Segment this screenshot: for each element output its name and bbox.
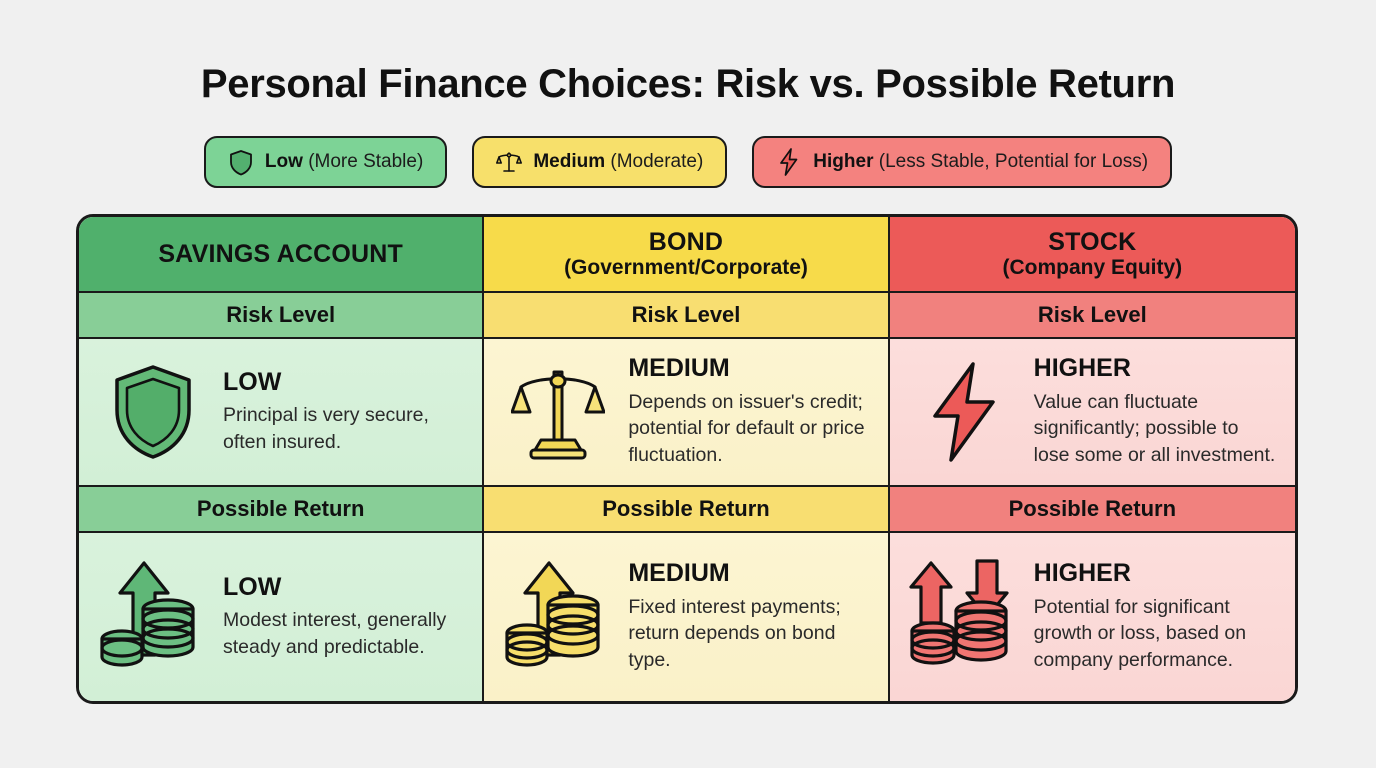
cell-risk-bond: MEDIUM Depends on issuer's credit; poten…	[484, 339, 889, 487]
cell-level: HIGHER	[1034, 560, 1279, 588]
scales-icon	[496, 148, 522, 176]
section-label-return-stock: Possible Return	[890, 487, 1295, 533]
column-header-main: SAVINGS ACCOUNT	[158, 240, 403, 268]
section-label-risk-savings: Risk Level	[79, 293, 484, 339]
lightning-icon	[908, 360, 1020, 464]
cell-risk-stock: HIGHER Value can fluctuate significantly…	[890, 339, 1295, 487]
lightning-icon	[776, 148, 802, 176]
cell-text: LOW Principal is very secure, often insu…	[223, 369, 466, 456]
scales-icon	[502, 362, 614, 462]
legend-label-text: Low	[265, 151, 303, 172]
cell-text: MEDIUM Fixed interest payments; return d…	[628, 560, 871, 674]
cell-description: Value can fluctuate significantly; possi…	[1034, 389, 1279, 469]
arrow-up-coins-icon	[502, 559, 614, 675]
legend: Low (More Stable) Medium (Moderate)	[0, 136, 1376, 188]
legend-chip-low: Low (More Stable)	[204, 136, 447, 188]
page-title: Personal Finance Choices: Risk vs. Possi…	[0, 62, 1376, 107]
column-header-bond: BOND (Government/Corporate)	[484, 217, 889, 293]
arrows-up-down-coins-icon	[908, 559, 1020, 675]
comparison-table: SAVINGS ACCOUNT BOND (Government/Corpora…	[76, 214, 1298, 704]
section-label-risk-bond: Risk Level	[484, 293, 889, 339]
legend-label-low: Low (More Stable)	[265, 151, 423, 173]
table-row-risk-level: LOW Principal is very secure, often insu…	[79, 339, 1295, 487]
cell-text: MEDIUM Depends on issuer's credit; poten…	[628, 355, 871, 469]
cell-return-savings-account: LOW Modest interest, generally steady an…	[79, 533, 484, 701]
column-header-stock: STOCK (Company Equity)	[890, 217, 1295, 293]
table-header-row: SAVINGS ACCOUNT BOND (Government/Corpora…	[79, 217, 1295, 293]
cell-return-bond: MEDIUM Fixed interest payments; return d…	[484, 533, 889, 701]
cell-text: HIGHER Potential for significant growth …	[1034, 560, 1279, 674]
cell-description: Principal is very secure, often insured.	[223, 402, 466, 455]
legend-chip-higher: Higher (Less Stable, Potential for Loss)	[752, 136, 1172, 188]
cell-return-stock: HIGHER Potential for significant growth …	[890, 533, 1295, 701]
section-header-risk-level: Risk Level Risk Level Risk Level	[79, 293, 1295, 339]
cell-description: Potential for significant growth or loss…	[1034, 594, 1279, 674]
legend-sub-text: (More Stable)	[308, 151, 423, 172]
cell-level: HIGHER	[1034, 355, 1279, 383]
cell-level: MEDIUM	[628, 355, 871, 383]
column-header-sub: (Government/Corporate)	[564, 256, 808, 280]
legend-chip-medium: Medium (Moderate)	[472, 136, 727, 188]
column-header-main: BOND	[649, 228, 723, 256]
cell-risk-savings-account: LOW Principal is very secure, often insu…	[79, 339, 484, 487]
legend-sub-text: (Less Stable, Potential for Loss)	[879, 151, 1148, 172]
section-header-possible-return: Possible Return Possible Return Possible…	[79, 487, 1295, 533]
section-label-return-savings: Possible Return	[79, 487, 484, 533]
section-label-risk-stock: Risk Level	[890, 293, 1295, 339]
column-header-savings-account: SAVINGS ACCOUNT	[79, 217, 484, 293]
cell-level: LOW	[223, 574, 466, 602]
legend-label-text: Higher	[813, 151, 873, 172]
table-row-possible-return: LOW Modest interest, generally steady an…	[79, 533, 1295, 701]
cell-level: LOW	[223, 369, 466, 397]
legend-label-medium: Medium (Moderate)	[533, 151, 703, 173]
cell-description: Fixed interest payments; return depends …	[628, 594, 871, 674]
shield-icon	[228, 148, 254, 176]
shield-icon	[97, 362, 209, 462]
legend-label-text: Medium	[533, 151, 605, 172]
cell-description: Depends on issuer's credit; potential fo…	[628, 389, 871, 469]
section-label-return-bond: Possible Return	[484, 487, 889, 533]
legend-label-higher: Higher (Less Stable, Potential for Loss)	[813, 151, 1148, 173]
cell-level: MEDIUM	[628, 560, 871, 588]
cell-text: LOW Modest interest, generally steady an…	[223, 574, 466, 661]
column-header-sub: (Company Equity)	[1002, 256, 1182, 280]
cell-text: HIGHER Value can fluctuate significantly…	[1034, 355, 1279, 469]
arrow-up-coins-icon	[97, 559, 209, 675]
column-header-main: STOCK	[1048, 228, 1136, 256]
cell-description: Modest interest, generally steady and pr…	[223, 607, 466, 660]
legend-sub-text: (Moderate)	[610, 151, 703, 172]
